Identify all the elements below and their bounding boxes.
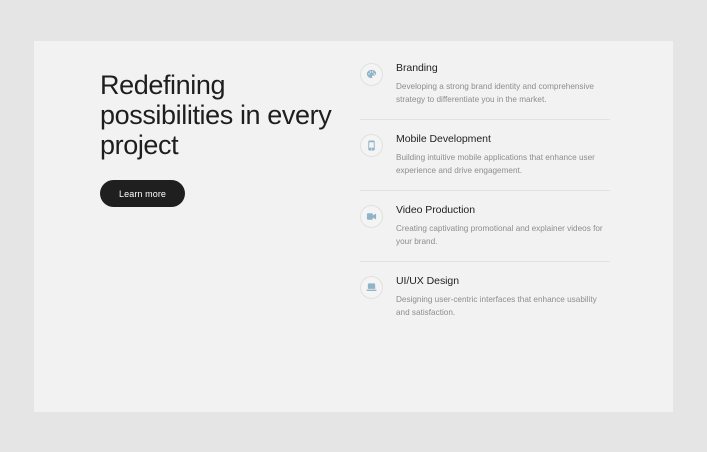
feature-item-uiux-design[interactable]: UI/UX Design Designing user-centric inte… [360, 261, 610, 332]
page-root: Redefining possibilities in every projec… [0, 0, 707, 452]
feature-description: Developing a strong brand identity and c… [396, 80, 604, 106]
feature-text: Mobile Development Building intuitive mo… [396, 132, 610, 177]
hero-card: Redefining possibilities in every projec… [34, 41, 673, 412]
feature-title: Video Production [396, 203, 610, 217]
laptop-screen-icon [360, 276, 383, 299]
feature-title: Branding [396, 61, 610, 75]
feature-text: Branding Developing a strong brand ident… [396, 61, 610, 106]
feature-title: UI/UX Design [396, 274, 610, 288]
feature-list: Branding Developing a strong brand ident… [360, 61, 610, 332]
feature-text: Video Production Creating captivating pr… [396, 203, 610, 248]
video-camera-icon [360, 205, 383, 228]
feature-description: Designing user-centric interfaces that e… [396, 293, 604, 319]
branding-palette-icon [360, 63, 383, 86]
feature-text: UI/UX Design Designing user-centric inte… [396, 274, 610, 319]
feature-item-mobile-development[interactable]: Mobile Development Building intuitive mo… [360, 119, 610, 190]
feature-item-branding[interactable]: Branding Developing a strong brand ident… [360, 61, 610, 119]
mobile-phone-icon [360, 134, 383, 157]
feature-description: Creating captivating promotional and exp… [396, 222, 604, 248]
feature-description: Building intuitive mobile applications t… [396, 151, 604, 177]
learn-more-button[interactable]: Learn more [100, 180, 185, 207]
feature-title: Mobile Development [396, 132, 610, 146]
hero-left-column: Redefining possibilities in every projec… [100, 70, 350, 207]
feature-item-video-production[interactable]: Video Production Creating captivating pr… [360, 190, 610, 261]
page-title: Redefining possibilities in every projec… [100, 70, 350, 160]
